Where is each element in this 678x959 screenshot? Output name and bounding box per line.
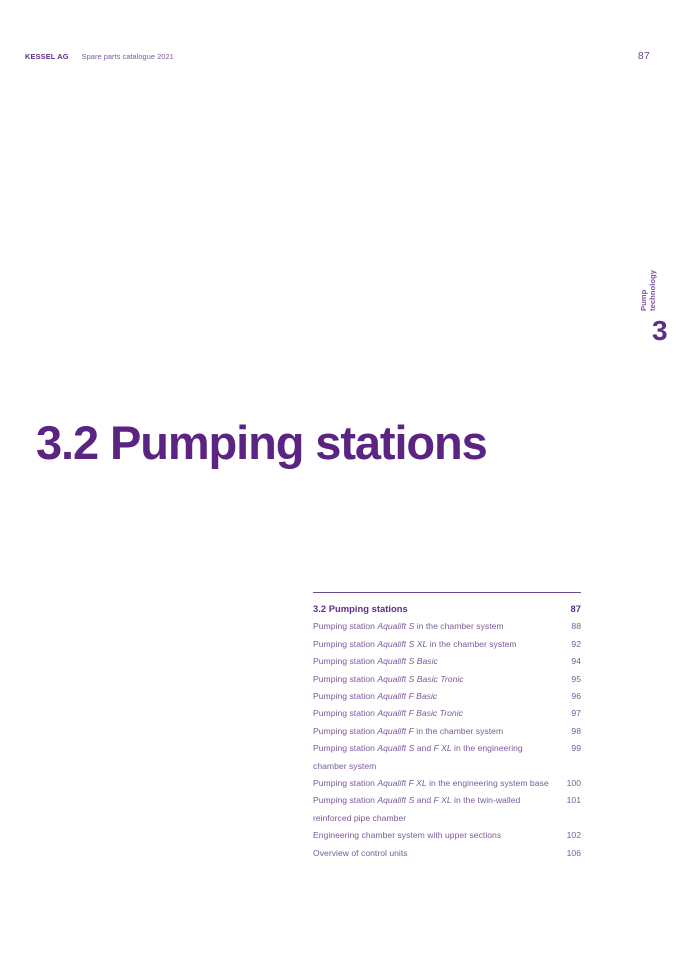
toc-entry-label: Pumping station Aqualift S Basic (313, 653, 563, 670)
toc-row[interactable]: Pumping station Aqualift S in the chambe… (313, 618, 581, 635)
running-header: KESSEL AG Spare parts catalogue 2021 (25, 52, 174, 61)
toc-row[interactable]: Pumping station Aqualift S and F XL in t… (313, 740, 581, 775)
toc-row[interactable]: Pumping station Aqualift F XL in the eng… (313, 775, 581, 792)
toc-entry-label: Pumping station Aqualift S in the chambe… (313, 618, 563, 635)
toc-entry-label: Overview of control units (313, 845, 563, 862)
toc-entry-page: 92 (563, 636, 581, 653)
toc-row[interactable]: Engineering chamber system with upper se… (313, 827, 581, 844)
toc-entry-page: 88 (563, 618, 581, 635)
toc-entry-label: Pumping station Aqualift S XL in the cha… (313, 636, 563, 653)
toc-entry-label: Pumping station Aqualift F in the chambe… (313, 723, 563, 740)
toc-divider (313, 592, 581, 593)
chapter-tab-line-2: technology (649, 270, 658, 311)
table-of-contents: 3.2 Pumping stations87Pumping station Aq… (313, 592, 581, 862)
toc-row[interactable]: Pumping station Aqualift S XL in the cha… (313, 636, 581, 653)
toc-row[interactable]: Pumping station Aqualift F in the chambe… (313, 723, 581, 740)
toc-row[interactable]: Pumping station Aqualift S and F XL in t… (313, 792, 581, 827)
toc-entry-label: Pumping station Aqualift F XL in the eng… (313, 775, 563, 792)
toc-entry-label: Pumping station Aqualift S and F XL in t… (313, 792, 563, 827)
toc-row[interactable]: Pumping station Aqualift S Basic Tronic9… (313, 671, 581, 688)
toc-entry-label: 3.2 Pumping stations (313, 600, 563, 618)
toc-row[interactable]: Pumping station Aqualift F Basic Tronic9… (313, 705, 581, 722)
toc-entry-page: 101 (563, 792, 581, 809)
toc-entry-page: 99 (563, 740, 581, 757)
chapter-number: 3 (652, 317, 667, 345)
chapter-tab-words: Pump technology (640, 255, 678, 311)
toc-entry-page: 106 (563, 845, 581, 862)
toc-entry-label: Pumping station Aqualift S Basic Tronic (313, 671, 563, 688)
toc-entry-label: Engineering chamber system with upper se… (313, 827, 563, 844)
toc-row[interactable]: Overview of control units106 (313, 845, 581, 862)
toc-entry-page: 102 (563, 827, 581, 844)
toc-row[interactable]: Pumping station Aqualift F Basic96 (313, 688, 581, 705)
toc-entry-page: 100 (563, 775, 581, 792)
catalogue-page: KESSEL AG Spare parts catalogue 2021 87 … (0, 0, 678, 959)
toc-entry-label: Pumping station Aqualift F Basic (313, 688, 563, 705)
toc-entry-page: 96 (563, 688, 581, 705)
toc-heading-row[interactable]: 3.2 Pumping stations87 (313, 600, 581, 618)
toc-entry-label: Pumping station Aqualift F Basic Tronic (313, 705, 563, 722)
toc-entry-page: 87 (563, 600, 581, 618)
brand-label: KESSEL AG (25, 52, 69, 61)
toc-entry-page: 98 (563, 723, 581, 740)
catalogue-subtitle: Spare parts catalogue 2021 (82, 52, 174, 61)
page-number: 87 (638, 50, 650, 62)
toc-entry-page: 95 (563, 671, 581, 688)
chapter-tab: Pump technology 3 (638, 255, 678, 365)
toc-list: 3.2 Pumping stations87Pumping station Aq… (313, 600, 581, 862)
page-title: 3.2 Pumping stations (36, 417, 487, 469)
toc-entry-page: 94 (563, 653, 581, 670)
toc-row[interactable]: Pumping station Aqualift S Basic94 (313, 653, 581, 670)
toc-entry-page: 97 (563, 705, 581, 722)
toc-entry-label: Pumping station Aqualift S and F XL in t… (313, 740, 563, 775)
